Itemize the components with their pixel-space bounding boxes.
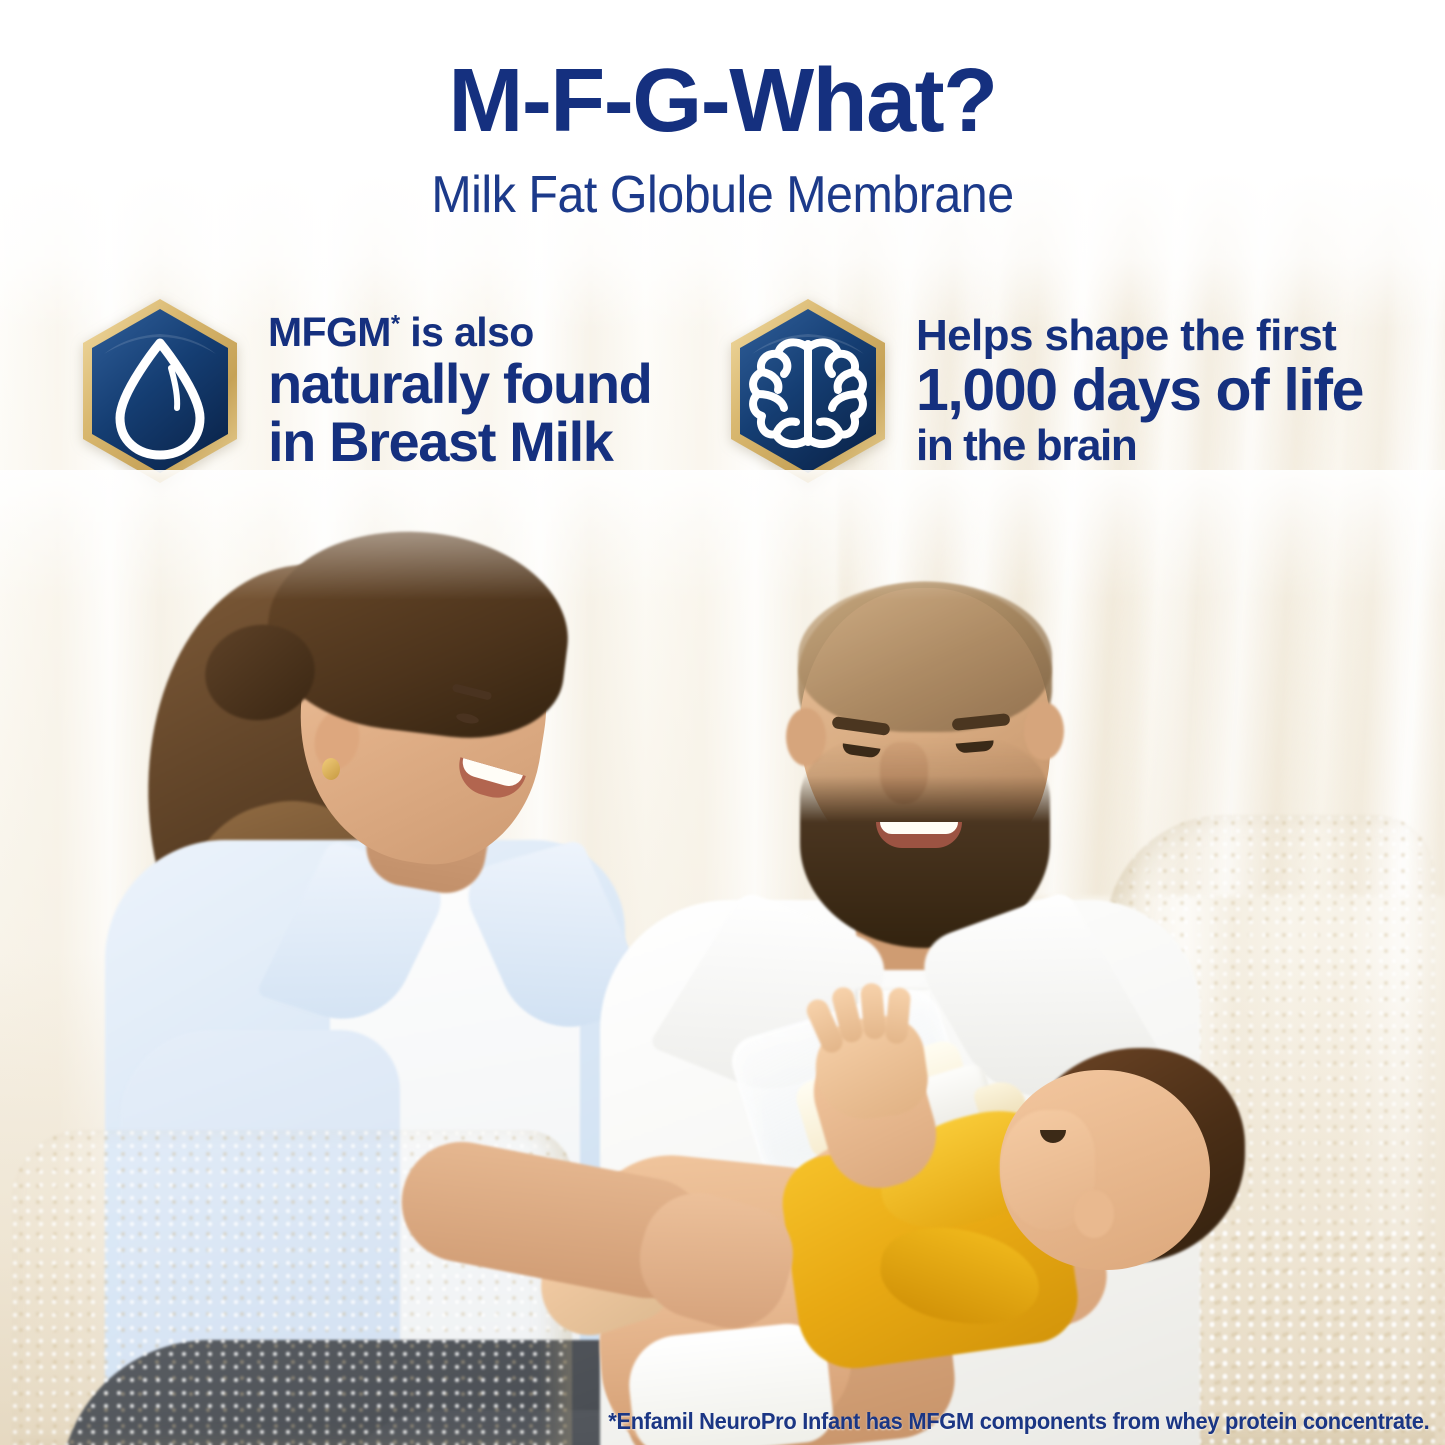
benefit-1-line1-rest: is also [400, 309, 534, 355]
father-hairline [798, 582, 1052, 732]
benefit-2-line3: in the brain [916, 424, 1363, 468]
photo-top-fade [0, 470, 1445, 600]
benefit-1-line1: MFGM [268, 309, 391, 355]
family-photo [0, 470, 1445, 1445]
benefit-item-mfgm-breast-milk: MFGM* is also naturally found in Breast … [74, 296, 651, 486]
father-ear-right [1024, 702, 1064, 760]
milk-drop-badge [74, 296, 246, 486]
benefit-2-line2: 1,000 days of life [916, 361, 1363, 420]
mother-earring [322, 758, 340, 780]
baby-ear [1074, 1190, 1114, 1238]
brain-icon [722, 296, 894, 486]
page-subtitle: Milk Fat Globule Membrane [51, 165, 1395, 225]
benefit-1-line2: naturally found [268, 356, 651, 412]
footnote-disclaimer: *Enfamil NeuroPro Infant has MFGM compon… [608, 1408, 1429, 1435]
milk-drop-icon [74, 296, 246, 486]
benefit-1-line3: in Breast Milk [268, 414, 651, 470]
promo-image: M-F-G-What? Milk Fat Globule Membrane [0, 0, 1445, 1445]
benefit-item-brain-development: Helps shape the first 1,000 days of life… [722, 296, 1363, 486]
brain-badge [722, 296, 894, 486]
benefit-text-brain: Helps shape the first 1,000 days of life… [916, 314, 1363, 468]
benefit-2-line1: Helps shape the first [916, 314, 1363, 358]
father-mouth [876, 822, 962, 848]
page-title: M-F-G-What? [0, 56, 1445, 146]
benefit-text-mfgm: MFGM* is also naturally found in Breast … [268, 312, 651, 470]
footnote-marker: * [391, 310, 400, 337]
